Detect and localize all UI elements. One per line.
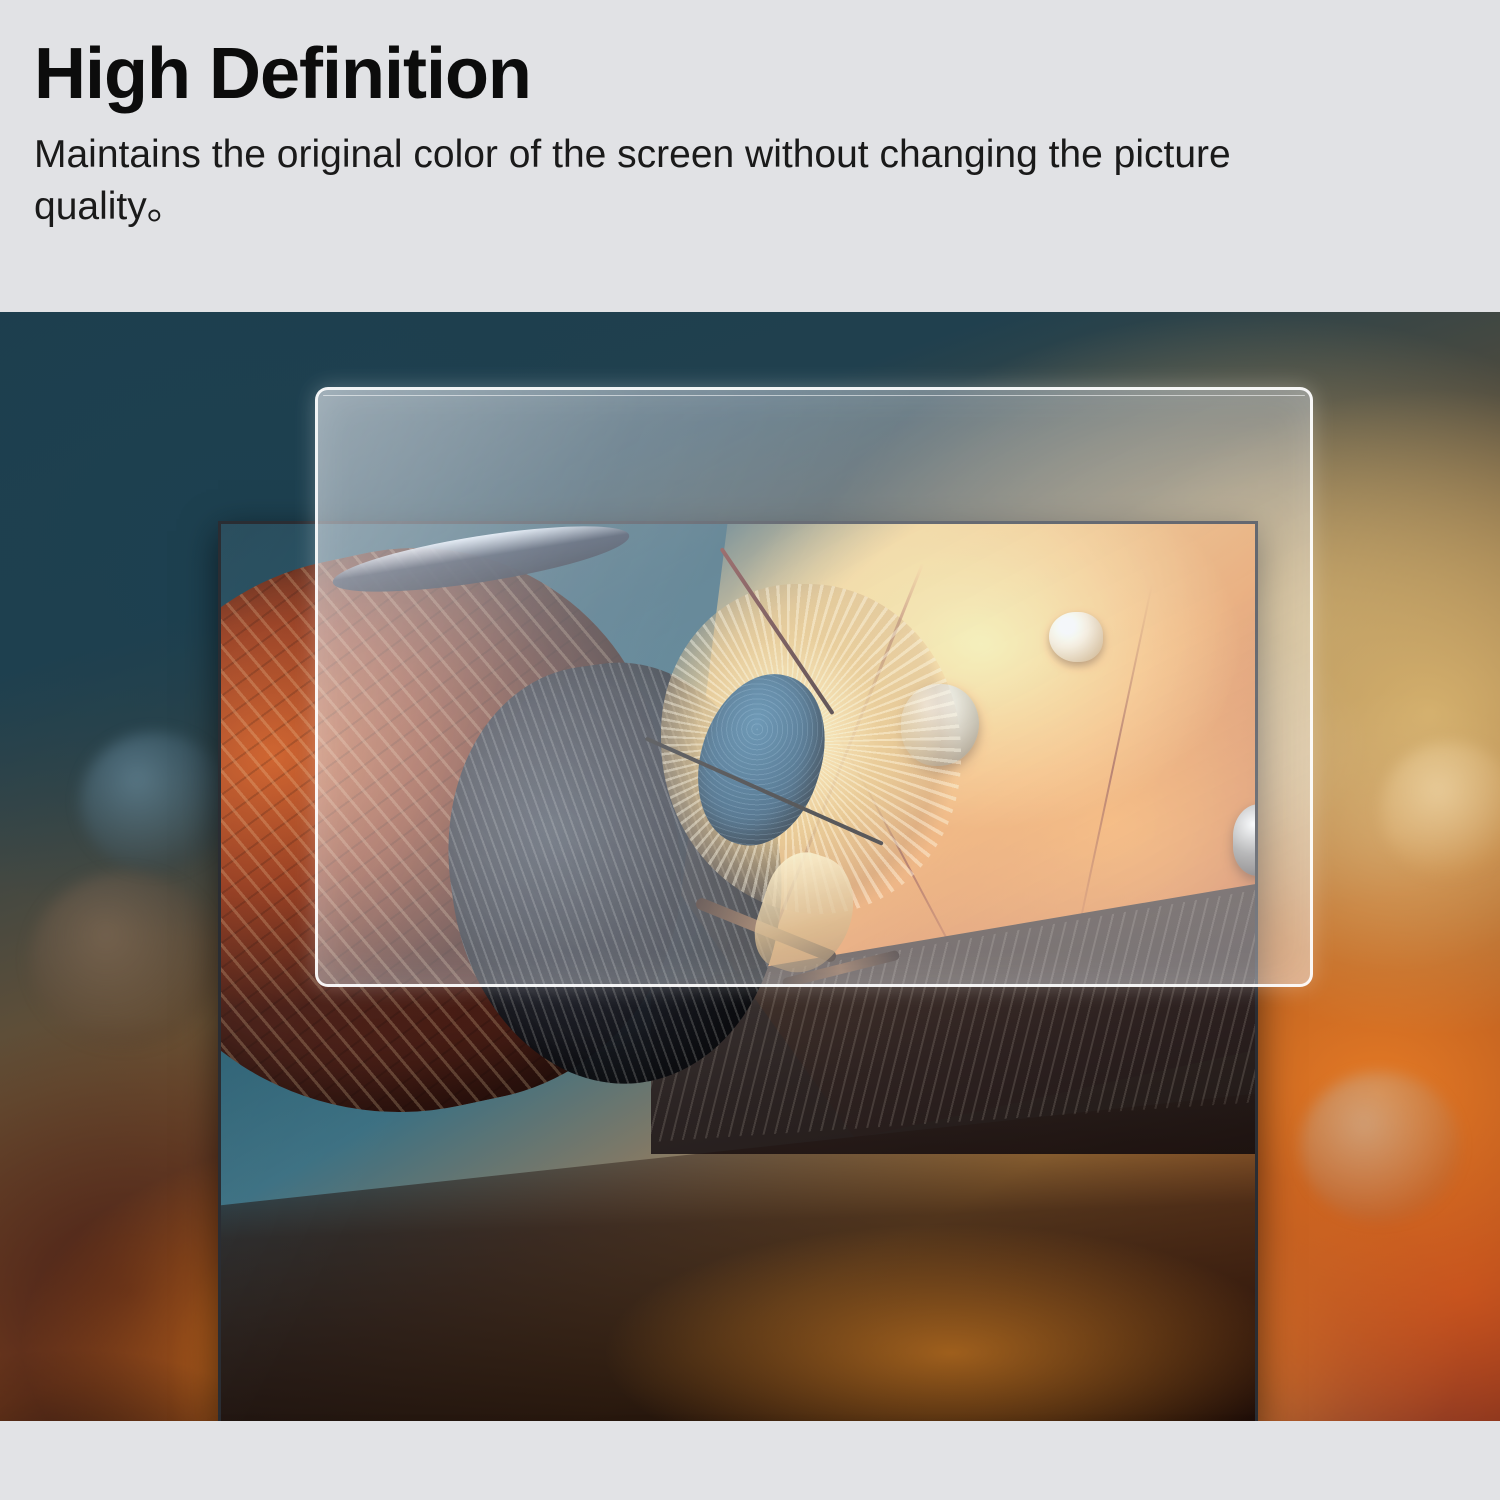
footer-band — [0, 1421, 1500, 1500]
product-photo: 221S PHILIPS ■◀ ■▼ ■▲ ■■ ⏻ · — [0, 312, 1500, 1421]
header-band: High Definition Maintains the original c… — [0, 0, 1500, 312]
film-sheen — [318, 390, 1310, 984]
product-marketing-image: High Definition Maintains the original c… — [0, 0, 1500, 1500]
screen-protector-film — [315, 387, 1313, 987]
page-subtitle: Maintains the original color of the scre… — [34, 129, 1274, 232]
monitor: 221S PHILIPS ■◀ ■▼ ■▲ ■■ ⏻ · — [0, 312, 1500, 1421]
page-title: High Definition — [34, 38, 1500, 111]
